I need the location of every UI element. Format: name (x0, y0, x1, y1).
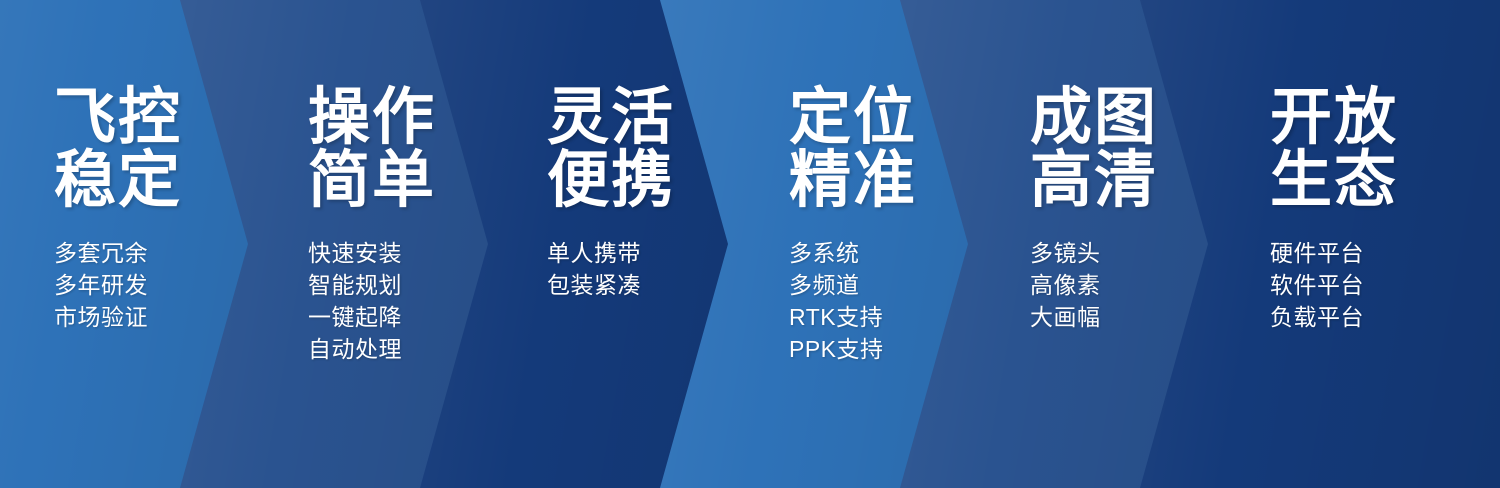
chevron-sheen-6 (1140, 0, 1500, 488)
feature-chevron-banner: 飞控 稳定 多套冗余 多年研发 市场验证 操作 简单 快速安装 智能规划 一键起… (0, 0, 1500, 488)
chevron-shape-6 (1140, 0, 1500, 488)
feature-panel-6[interactable] (1140, 0, 1500, 488)
